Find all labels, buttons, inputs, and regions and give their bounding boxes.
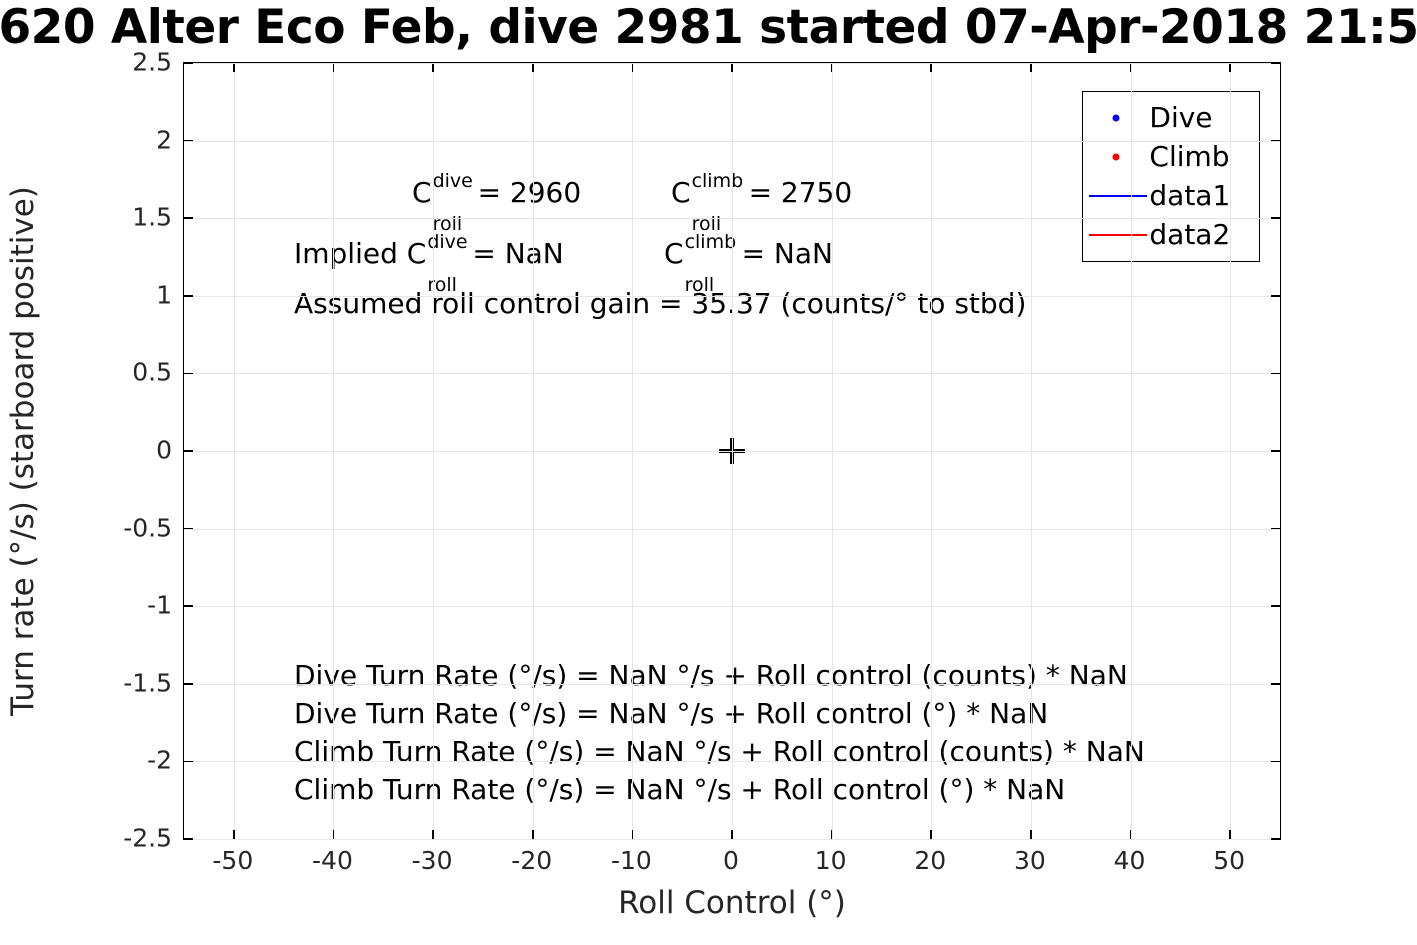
legend-item-label: Dive bbox=[1149, 103, 1212, 133]
y-axis-tick bbox=[184, 838, 193, 840]
x-axis-tick bbox=[432, 830, 434, 839]
gridline-horizontal bbox=[184, 761, 1280, 762]
x-axis-tick bbox=[632, 63, 634, 72]
coef-dive-symbol: C bbox=[412, 176, 432, 209]
x-axis-tick-label: 50 bbox=[1213, 848, 1245, 873]
y-axis-tick bbox=[1271, 605, 1280, 607]
legend-item[interactable]: Dive bbox=[1083, 98, 1259, 137]
x-axis-tick bbox=[1229, 63, 1231, 72]
annotation-implied-dive: Implied Cdiveroll= NaN bbox=[294, 239, 564, 269]
annotation-equation-1: Dive Turn Rate (°/s) = NaN °/s + Roll co… bbox=[294, 699, 1048, 729]
y-axis-tick bbox=[184, 217, 193, 219]
coef-climb-value: = 2750 bbox=[749, 176, 853, 209]
y-axis-tick-label: 1 bbox=[156, 282, 172, 307]
x-axis-tick bbox=[1229, 830, 1231, 839]
implied-dive-symbol: C bbox=[407, 237, 427, 270]
y-axis-tick-label: -2.5 bbox=[123, 826, 172, 851]
x-axis-tick bbox=[1130, 830, 1132, 839]
gridline-horizontal bbox=[184, 684, 1280, 685]
x-axis-tick bbox=[731, 63, 733, 72]
x-axis-tick bbox=[333, 63, 335, 72]
x-axis-tick bbox=[930, 830, 932, 839]
y-axis-tick-labels: 2.521.510.50-0.5-1-1.5-2-2.5 bbox=[0, 62, 172, 840]
gridline-horizontal bbox=[184, 606, 1280, 607]
x-axis-tick bbox=[930, 63, 932, 72]
y-axis-tick bbox=[184, 295, 193, 297]
annotation-coef-dive: Cdiveroll= 2960 bbox=[412, 178, 581, 208]
x-axis-tick bbox=[233, 63, 235, 72]
implied-climb-superscript: climb bbox=[685, 233, 737, 252]
x-axis-tick bbox=[233, 830, 235, 839]
annotation-implied-climb: Cclimbroll= NaN bbox=[664, 239, 833, 269]
y-axis-tick bbox=[184, 683, 193, 685]
y-axis-tick bbox=[184, 140, 193, 142]
x-axis-tick-label: 20 bbox=[914, 848, 946, 873]
figure-canvas: 620 Alter Eco Feb, dive 2981 started 07-… bbox=[0, 0, 1417, 945]
y-axis-tick bbox=[1271, 295, 1280, 297]
x-axis-tick-label: -30 bbox=[412, 848, 453, 873]
y-axis-tick bbox=[1271, 683, 1280, 685]
gridline-horizontal bbox=[184, 63, 1280, 64]
x-axis-tick bbox=[532, 830, 534, 839]
y-axis-tick bbox=[1271, 761, 1280, 763]
y-axis-tick bbox=[184, 450, 193, 452]
annotation-coef-climb: Cclimbroll= 2750 bbox=[671, 178, 852, 208]
implied-climb-value: = NaN bbox=[742, 237, 833, 270]
x-axis-label: Roll Control (°) bbox=[183, 884, 1281, 922]
gridline-horizontal bbox=[184, 141, 1280, 142]
y-axis-tick-label: 0.5 bbox=[132, 360, 172, 385]
y-axis-tick bbox=[184, 528, 193, 530]
x-axis-tick bbox=[1130, 63, 1132, 72]
x-axis-tick-label: 30 bbox=[1014, 848, 1046, 873]
y-axis-tick-label: -0.5 bbox=[123, 515, 172, 540]
legend-item[interactable]: Climb bbox=[1083, 137, 1259, 176]
legend-item[interactable]: data1 bbox=[1083, 176, 1259, 215]
x-axis-tick-label: -10 bbox=[611, 848, 652, 873]
y-axis-tick-label: 2.5 bbox=[132, 50, 172, 75]
x-axis-tick bbox=[831, 63, 833, 72]
y-axis-tick bbox=[184, 605, 193, 607]
gridline-horizontal bbox=[184, 296, 1280, 297]
legend-marker-dot-icon bbox=[1083, 137, 1149, 176]
chart-title-container: 620 Alter Eco Feb, dive 2981 started 07-… bbox=[0, 0, 1417, 56]
y-axis-tick-label: -2 bbox=[147, 748, 172, 773]
legend-item[interactable]: data2 bbox=[1083, 215, 1259, 254]
y-axis-tick bbox=[184, 761, 193, 763]
annotation-equation-2: Climb Turn Rate (°/s) = NaN °/s + Roll c… bbox=[294, 737, 1145, 767]
gridline-horizontal bbox=[184, 373, 1280, 374]
coef-climb-superscript: climb bbox=[692, 172, 744, 191]
legend-marker-line-icon bbox=[1083, 176, 1149, 215]
y-axis-tick bbox=[1271, 140, 1280, 142]
gridline-horizontal bbox=[184, 451, 1280, 452]
coef-dive-value: = 2960 bbox=[478, 176, 582, 209]
y-axis-tick bbox=[1271, 217, 1280, 219]
legend-item-label: data1 bbox=[1149, 181, 1230, 211]
x-axis-tick-label: -40 bbox=[312, 848, 353, 873]
x-axis-tick bbox=[432, 63, 434, 72]
x-axis-tick bbox=[731, 830, 733, 839]
x-axis-tick-label: 10 bbox=[815, 848, 847, 873]
legend-swatch bbox=[1113, 114, 1120, 121]
y-axis-tick bbox=[1271, 373, 1280, 375]
y-axis-tick-label: 0 bbox=[156, 438, 172, 463]
coef-climb-symbol: C bbox=[671, 176, 691, 209]
gridline-horizontal bbox=[184, 529, 1280, 530]
y-axis-tick bbox=[1271, 528, 1280, 530]
implied-climb-symbol: C bbox=[664, 237, 684, 270]
y-axis-tick-label: 1.5 bbox=[132, 205, 172, 230]
chart-legend[interactable]: DiveClimbdata1data2 bbox=[1082, 91, 1260, 262]
legend-swatch bbox=[1089, 234, 1147, 236]
legend-item-label: data2 bbox=[1149, 220, 1230, 250]
gridline-horizontal bbox=[184, 218, 1280, 219]
x-axis-tick-label: 40 bbox=[1114, 848, 1146, 873]
y-axis-tick bbox=[1271, 62, 1280, 64]
y-axis-tick-label: -1.5 bbox=[123, 670, 172, 695]
x-axis-tick-label: -50 bbox=[212, 848, 253, 873]
x-axis-tick bbox=[1030, 830, 1032, 839]
y-axis-tick bbox=[1271, 838, 1280, 840]
x-axis-tick bbox=[333, 830, 335, 839]
y-axis-tick-label: 2 bbox=[156, 127, 172, 152]
annotation-gain: Assumed roll control gain = 35.37 (count… bbox=[294, 289, 1026, 319]
annotation-equation-3: Climb Turn Rate (°/s) = NaN °/s + Roll c… bbox=[294, 775, 1065, 805]
implied-dive-prefix: Implied bbox=[294, 237, 407, 270]
coef-dive-superscript: dive bbox=[433, 172, 473, 191]
gridline-horizontal bbox=[184, 839, 1280, 840]
x-axis-tick bbox=[1030, 63, 1032, 72]
plot-area: Cdiveroll= 2960 Cclimbroll= 2750 Implied… bbox=[183, 62, 1281, 840]
x-axis-tick bbox=[532, 63, 534, 72]
x-axis-tick bbox=[632, 830, 634, 839]
y-axis-tick bbox=[184, 62, 193, 64]
page-title: 620 Alter Eco Feb, dive 2981 started 07-… bbox=[0, 2, 1417, 54]
implied-dive-value: = NaN bbox=[472, 237, 563, 270]
x-axis-tick bbox=[831, 830, 833, 839]
y-axis-tick bbox=[184, 373, 193, 375]
annotation-equation-0: Dive Turn Rate (°/s) = NaN °/s + Roll co… bbox=[294, 661, 1128, 691]
y-axis-tick-label: -1 bbox=[147, 593, 172, 618]
legend-item-label: Climb bbox=[1149, 142, 1229, 172]
legend-marker-dot-icon bbox=[1083, 98, 1149, 137]
y-axis-tick bbox=[1271, 450, 1280, 452]
x-axis-tick-labels: -50-40-30-20-1001020304050 bbox=[183, 848, 1281, 880]
x-axis-tick-label: -20 bbox=[511, 848, 552, 873]
legend-swatch bbox=[1089, 195, 1147, 197]
x-axis-tick-label: 0 bbox=[723, 848, 739, 873]
legend-marker-line-icon bbox=[1083, 215, 1149, 254]
legend-swatch bbox=[1113, 153, 1120, 160]
